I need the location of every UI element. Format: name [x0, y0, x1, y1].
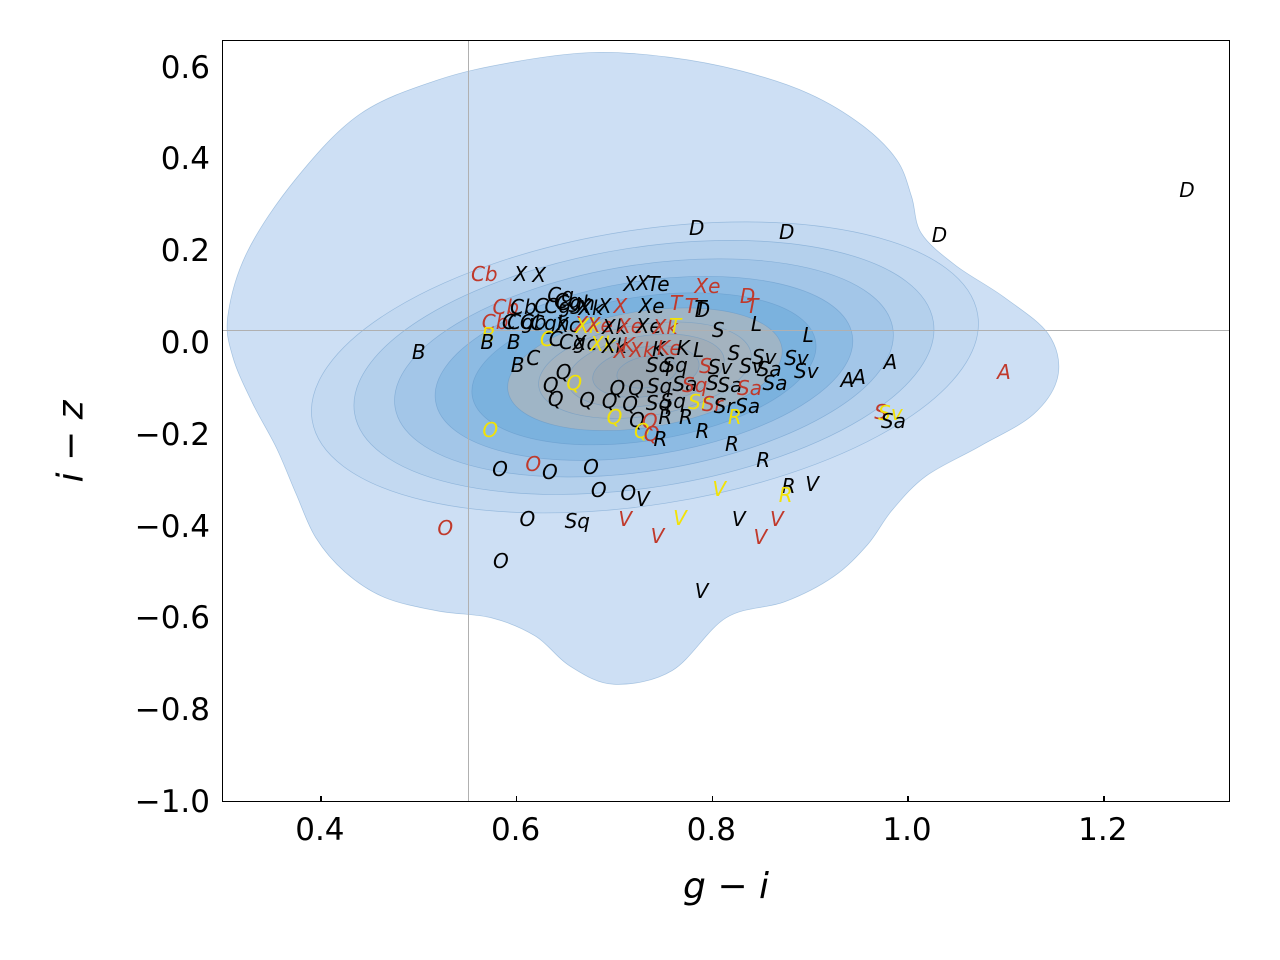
data-point-label: D — [689, 218, 704, 238]
data-point-label: T — [670, 293, 682, 313]
data-points-layer: DDDDDDCbXXXXTeXeCgCgCghCbCbCCgXXkXXXeTTT… — [223, 41, 1229, 801]
data-point-label: L — [751, 314, 762, 334]
y-tick-mark — [222, 343, 223, 345]
data-point-label: T — [694, 298, 706, 318]
data-point-label: O — [542, 462, 558, 482]
data-point-label: X — [623, 274, 637, 294]
data-point-label: Xe — [694, 276, 720, 296]
y-tick-mark — [222, 68, 223, 70]
y-tick-label: −0.2 — [135, 417, 210, 453]
x-tick-label: 0.4 — [295, 812, 344, 848]
y-tick-label: −0.6 — [135, 600, 210, 636]
y-tick-label: 0.2 — [161, 233, 210, 269]
data-point-label: V — [753, 527, 767, 547]
data-point-label: R — [725, 434, 739, 454]
data-point-label: Sa — [881, 411, 906, 431]
data-point-label: R — [728, 407, 742, 427]
x-axis-title: g − i — [222, 866, 1230, 907]
data-point-label: L — [803, 325, 814, 345]
data-point-label: A — [997, 362, 1011, 382]
data-point-label: B — [511, 355, 525, 375]
figure-canvas: DDDDDDCbXXXXTeXeCgCgCghCbCbCCgXXkXXXeTTT… — [0, 0, 1280, 960]
data-point-label: B — [480, 332, 494, 352]
data-point-label: Q — [548, 389, 564, 409]
data-point-label: O — [437, 518, 453, 538]
data-point-label: Cb — [471, 264, 498, 284]
y-tick-label: 0.6 — [161, 50, 210, 86]
data-point-label: O — [493, 551, 509, 571]
data-point-label: V — [732, 509, 746, 529]
data-point-label: O — [620, 483, 636, 503]
data-point-label: T — [669, 316, 681, 336]
data-point-label: V — [673, 508, 687, 528]
data-point-label: V — [805, 474, 819, 494]
data-point-label: V — [695, 581, 709, 601]
data-point-label: Q — [607, 407, 623, 427]
data-point-label: Q — [579, 390, 595, 410]
data-point-label: O — [520, 509, 536, 529]
data-point-label: V — [618, 509, 632, 529]
data-point-label: X — [532, 265, 546, 285]
y-tick-mark — [222, 435, 223, 437]
data-point-label: Sq — [565, 511, 590, 531]
data-point-label: O — [482, 420, 498, 440]
data-point-label: A — [852, 367, 866, 387]
data-point-label: Sv — [794, 361, 819, 381]
x-axis-tick-labels: 0.40.60.81.01.2 — [222, 802, 1230, 852]
data-point-label: Te — [647, 274, 669, 294]
y-tick-label: 0.4 — [161, 141, 210, 177]
data-point-label: O — [591, 480, 607, 500]
data-point-label: R — [779, 485, 793, 505]
data-point-label: V — [712, 479, 726, 499]
y-tick-mark — [222, 527, 223, 529]
data-point-label: V — [651, 526, 665, 546]
data-point-label: X — [613, 341, 627, 361]
data-point-label: X — [514, 264, 528, 284]
data-point-label: C — [526, 348, 540, 368]
x-tick-label: 0.8 — [687, 812, 736, 848]
data-point-label: O — [492, 459, 508, 479]
x-tick-label: 1.0 — [882, 812, 931, 848]
data-point-label: D — [932, 225, 947, 245]
x-tick-label: 1.2 — [1078, 812, 1127, 848]
y-tick-mark — [222, 251, 223, 253]
data-point-label: R — [654, 429, 668, 449]
data-point-label: D — [779, 222, 794, 242]
data-point-label: Sa — [763, 373, 788, 393]
y-axis-title: i − z — [51, 61, 92, 823]
data-point-label: O — [525, 454, 541, 474]
y-tick-label: −0.8 — [135, 692, 210, 728]
data-point-label: S — [712, 320, 725, 340]
y-tick-mark — [222, 160, 223, 162]
y-tick-mark — [222, 710, 223, 712]
y-tick-label: 0.0 — [161, 325, 210, 361]
data-point-label: V — [770, 509, 784, 529]
data-point-label: B — [412, 342, 426, 362]
data-point-label: A — [884, 352, 898, 372]
y-tick-mark — [222, 619, 223, 621]
data-point-label: R — [679, 407, 693, 427]
y-tick-label: −0.4 — [135, 509, 210, 545]
x-tick-label: 0.6 — [491, 812, 540, 848]
data-point-label: B — [507, 332, 521, 352]
plot-area: DDDDDDCbXXXXTeXeCgCgCghCbCbCCgXXkXXXeTTT… — [222, 40, 1230, 802]
data-point-label: R — [696, 421, 710, 441]
y-tick-label: −1.0 — [135, 784, 210, 820]
data-point-label: V — [636, 489, 650, 509]
data-point-label: D — [1179, 180, 1194, 200]
data-point-label: O — [583, 457, 599, 477]
data-point-label: R — [658, 407, 672, 427]
data-point-label: R — [756, 450, 770, 470]
